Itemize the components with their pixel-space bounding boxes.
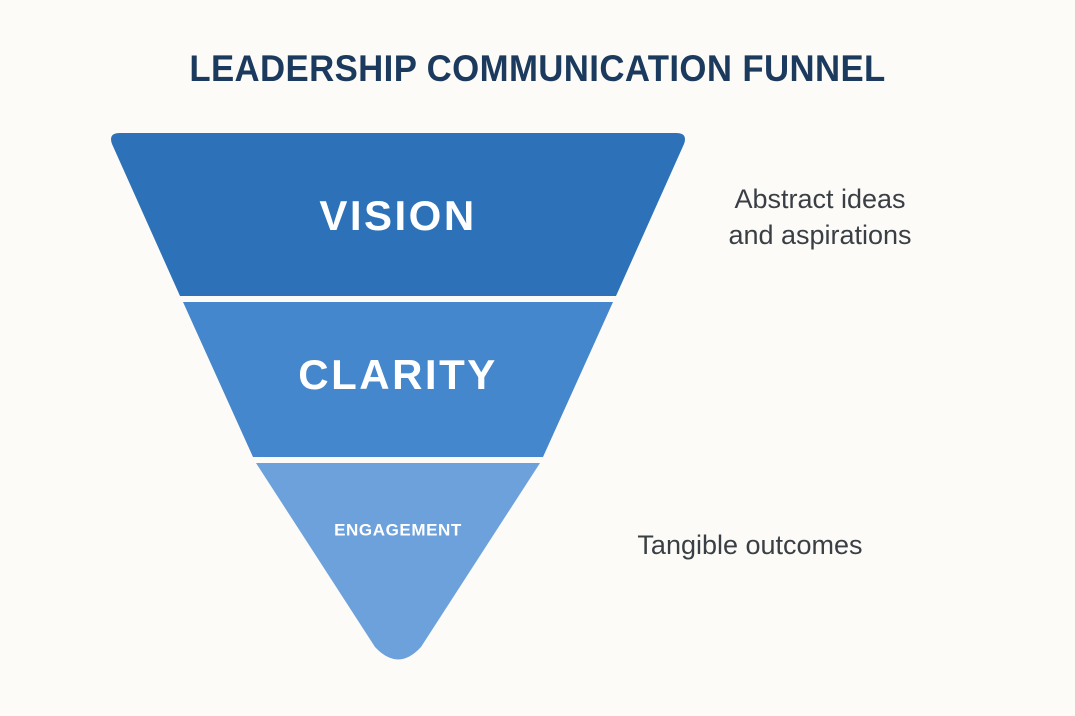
annotation-abstract-ideas: Abstract ideas and aspirations — [700, 182, 940, 253]
annotation-tangible-outcomes: Tangible outcomes — [600, 528, 900, 564]
funnel-diagram-canvas: LEADERSHIP COMMUNICATION FUNNEL VISION C… — [0, 0, 1075, 716]
funnel-stage-clarity-label: CLARITY — [298, 351, 498, 398]
funnel-stage-vision-label: VISION — [319, 192, 476, 239]
funnel-stage-vision[interactable]: VISION — [111, 133, 685, 296]
funnel-stage-engagement-shape — [256, 463, 540, 660]
funnel-chart: VISION CLARITY ENGAGEMENT — [0, 0, 1075, 716]
funnel-stage-clarity[interactable]: CLARITY — [183, 302, 613, 457]
funnel-stage-engagement-label: ENGAGEMENT — [334, 520, 462, 539]
funnel-stage-engagement[interactable]: ENGAGEMENT — [256, 463, 540, 660]
